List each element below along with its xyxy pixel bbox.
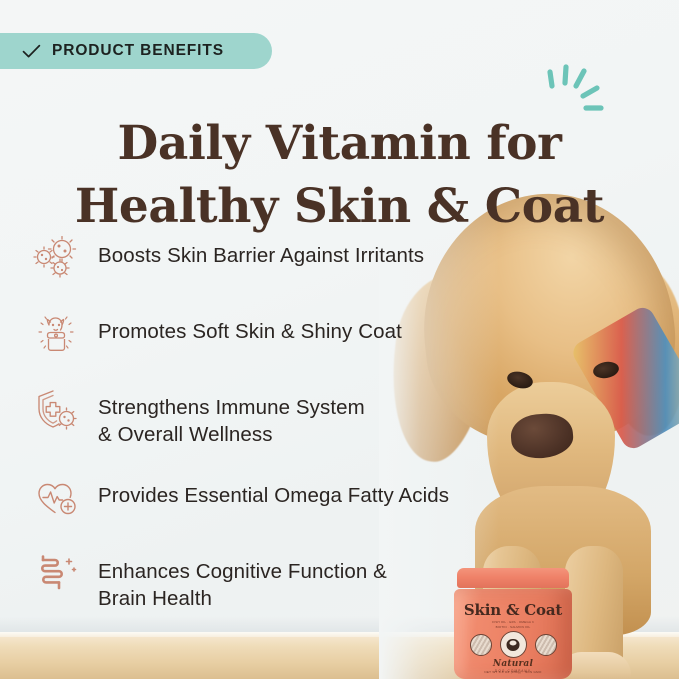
jar-subtitle: FISH OIL · EPA · OMEGA 3 BIOTIN · SALMON…	[454, 620, 572, 629]
benefit-item: Strengthens Immune System & Overall Well…	[30, 384, 500, 448]
benefit-line-2: Brain Health	[98, 585, 387, 612]
jar-seals	[454, 631, 572, 658]
badge-label: PRODUCT BENEFITS	[52, 42, 224, 60]
benefit-item: Boosts Skin Barrier Against Irritants	[30, 232, 500, 284]
jar-title: Skin & Coat	[454, 601, 572, 619]
jar-seal-left	[470, 634, 492, 656]
benefit-item: Promotes Soft Skin & Shiny Coat	[30, 308, 500, 360]
jar-brand: Natural	[454, 659, 572, 669]
benefit-line-1: Promotes Soft Skin & Shiny Coat	[98, 320, 402, 343]
sparkle-burst-icon	[543, 58, 617, 120]
germ-cells-icon	[30, 232, 82, 284]
jar-dog-medallion-icon	[500, 631, 527, 658]
product-jar: Skin & Coat FISH OIL · EPA · OMEGA 3 BIO…	[454, 568, 572, 679]
shiny-dog-icon	[30, 308, 82, 360]
benefit-line-1: Strengthens Immune System	[98, 396, 365, 419]
promo-image: PRODUCT BENEFITS Daily Vitamin for Healt…	[0, 0, 679, 679]
benefit-line-1: Enhances Cognitive Function &	[98, 560, 387, 583]
page-title: Daily Vitamin for Healthy Skin & Coat	[0, 113, 679, 237]
jar-net-weight: NET WT 8.8 OZ (250g) · NON GMO	[454, 670, 572, 674]
heading-line-2: Healthy Skin & Coat	[26, 176, 653, 238]
benefit-item: Enhances Cognitive Function & Brain Heal…	[30, 548, 500, 612]
intestine-icon	[30, 548, 82, 600]
benefit-label: Promotes Soft Skin & Shiny Coat	[98, 308, 402, 345]
benefit-label: Provides Essential Omega Fatty Acids	[98, 472, 449, 509]
benefit-item: Provides Essential Omega Fatty Acids	[30, 472, 500, 524]
check-icon	[22, 44, 41, 59]
product-benefits-badge: PRODUCT BENEFITS	[0, 33, 272, 69]
benefit-label: Boosts Skin Barrier Against Irritants	[98, 232, 424, 269]
benefit-line-1: Boosts Skin Barrier Against Irritants	[98, 244, 424, 267]
jar-seal-right	[535, 634, 557, 656]
benefit-label: Strengthens Immune System & Overall Well…	[98, 384, 365, 448]
jar-body: Skin & Coat FISH OIL · EPA · OMEGA 3 BIO…	[454, 589, 572, 679]
heart-pulse-icon	[30, 472, 82, 524]
shield-cross-icon	[30, 384, 82, 436]
jar-subtitle-line-2: BIOTIN · SALMON OIL	[454, 625, 572, 630]
benefits-list: Boosts Skin Barrier Against Irritants	[30, 232, 500, 636]
jar-lid	[457, 568, 569, 588]
benefit-line-2: & Overall Wellness	[98, 421, 365, 448]
heading-line-1: Daily Vitamin for	[26, 113, 653, 175]
benefit-line-1: Provides Essential Omega Fatty Acids	[98, 484, 449, 507]
benefit-label: Enhances Cognitive Function & Brain Heal…	[98, 548, 387, 612]
